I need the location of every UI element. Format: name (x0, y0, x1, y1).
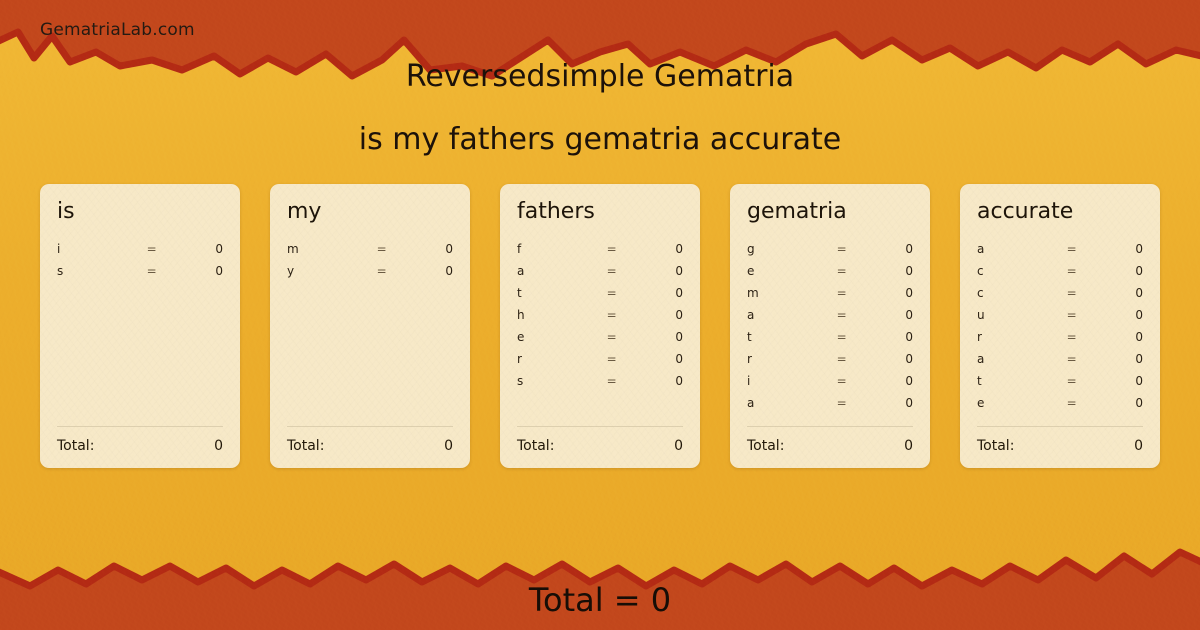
equals-sign: = (1053, 326, 1090, 348)
letter-list: m=0y=0 (287, 238, 453, 420)
letter-row: i=0 (57, 238, 223, 260)
letter-value: 0 (1090, 282, 1143, 304)
letter-value: 0 (630, 304, 683, 326)
equals-sign: = (363, 260, 400, 282)
letter-char: a (517, 260, 593, 282)
letter-row: a=0 (517, 260, 683, 282)
letter-row: c=0 (977, 260, 1143, 282)
letter-value: 0 (630, 348, 683, 370)
equals-sign: = (1053, 370, 1090, 392)
equals-sign: = (593, 326, 630, 348)
card-word: accurate (977, 200, 1143, 224)
word-card: isi=0s=0Total:0 (40, 184, 240, 468)
letter-char: e (977, 392, 1053, 414)
letter-char: s (57, 260, 133, 282)
letter-row: y=0 (287, 260, 453, 282)
letter-value: 0 (1090, 304, 1143, 326)
word-card: fathersf=0a=0t=0h=0e=0r=0s=0Total:0 (500, 184, 700, 468)
equals-sign: = (823, 392, 860, 414)
equals-sign: = (133, 238, 170, 260)
letter-value: 0 (170, 260, 223, 282)
equals-sign: = (593, 282, 630, 304)
letter-value: 0 (860, 282, 913, 304)
letter-char: c (977, 282, 1053, 304)
equals-sign: = (593, 260, 630, 282)
equals-sign: = (823, 348, 860, 370)
card-total-label: Total: (287, 438, 324, 454)
letter-char: r (747, 348, 823, 370)
letter-row: a=0 (977, 348, 1143, 370)
letter-char: a (747, 304, 823, 326)
letter-row: f=0 (517, 238, 683, 260)
letter-row: u=0 (977, 304, 1143, 326)
letter-value: 0 (1090, 260, 1143, 282)
equals-sign: = (823, 238, 860, 260)
word-card: mym=0y=0Total:0 (270, 184, 470, 468)
letter-char: a (747, 392, 823, 414)
equals-sign: = (1053, 238, 1090, 260)
letter-value: 0 (170, 238, 223, 260)
letter-value: 0 (400, 260, 453, 282)
letter-row: e=0 (747, 260, 913, 282)
letter-value: 0 (860, 260, 913, 282)
equals-sign: = (593, 304, 630, 326)
letter-row: a=0 (747, 392, 913, 414)
equals-sign: = (823, 260, 860, 282)
letter-value: 0 (860, 348, 913, 370)
letter-char: u (977, 304, 1053, 326)
letter-value: 0 (860, 304, 913, 326)
equals-sign: = (823, 326, 860, 348)
letter-row: t=0 (517, 282, 683, 304)
letter-char: i (57, 238, 133, 260)
letter-row: r=0 (517, 348, 683, 370)
card-total-value: 0 (1134, 438, 1143, 454)
letter-char: m (747, 282, 823, 304)
equals-sign: = (593, 348, 630, 370)
letter-value: 0 (630, 326, 683, 348)
letter-row: a=0 (977, 238, 1143, 260)
card-total-value: 0 (444, 438, 453, 454)
grand-total: Total = 0 (0, 581, 1200, 619)
letter-row: s=0 (517, 370, 683, 392)
card-total-value: 0 (214, 438, 223, 454)
letter-row: e=0 (977, 392, 1143, 414)
letter-list: i=0s=0 (57, 238, 223, 420)
card-total-label: Total: (57, 438, 94, 454)
letter-value: 0 (630, 260, 683, 282)
letter-value: 0 (860, 326, 913, 348)
equals-sign: = (1053, 282, 1090, 304)
site-brand[interactable]: GematriaLab.com (40, 20, 195, 40)
letter-value: 0 (630, 238, 683, 260)
letter-char: f (517, 238, 593, 260)
letter-char: t (517, 282, 593, 304)
card-total-row: Total:0 (517, 427, 683, 454)
card-word: gematria (747, 200, 913, 224)
letter-char: s (517, 370, 593, 392)
letter-value: 0 (860, 238, 913, 260)
equals-sign: = (823, 282, 860, 304)
page-subtitle: is my fathers gematria accurate (0, 122, 1200, 157)
card-total-row: Total:0 (977, 427, 1143, 454)
equals-sign: = (1053, 260, 1090, 282)
letter-value: 0 (400, 238, 453, 260)
letter-char: i (747, 370, 823, 392)
letter-value: 0 (630, 282, 683, 304)
letter-value: 0 (1090, 370, 1143, 392)
letter-list: a=0c=0c=0u=0r=0a=0t=0e=0 (977, 238, 1143, 420)
equals-sign: = (823, 370, 860, 392)
equals-sign: = (1053, 348, 1090, 370)
letter-row: t=0 (977, 370, 1143, 392)
letter-row: h=0 (517, 304, 683, 326)
letter-char: y (287, 260, 363, 282)
equals-sign: = (133, 260, 170, 282)
letter-list: g=0e=0m=0a=0t=0r=0i=0a=0 (747, 238, 913, 420)
letter-char: h (517, 304, 593, 326)
letter-value: 0 (1090, 392, 1143, 414)
card-total-label: Total: (517, 438, 554, 454)
page-title: Reversedsimple Gematria (0, 59, 1200, 94)
card-total-value: 0 (674, 438, 683, 454)
letter-char: a (977, 238, 1053, 260)
word-cards-row: isi=0s=0Total:0mym=0y=0Total:0fathersf=0… (40, 184, 1160, 468)
letter-char: r (977, 326, 1053, 348)
letter-char: g (747, 238, 823, 260)
letter-value: 0 (630, 370, 683, 392)
letter-row: m=0 (287, 238, 453, 260)
equals-sign: = (1053, 392, 1090, 414)
letter-value: 0 (1090, 326, 1143, 348)
letter-row: g=0 (747, 238, 913, 260)
letter-char: r (517, 348, 593, 370)
card-word: my (287, 200, 453, 224)
letter-char: e (517, 326, 593, 348)
letter-list: f=0a=0t=0h=0e=0r=0s=0 (517, 238, 683, 420)
letter-value: 0 (860, 392, 913, 414)
letter-char: e (747, 260, 823, 282)
equals-sign: = (593, 238, 630, 260)
gematria-poster: GematriaLab.com Reversedsimple Gematria … (0, 0, 1200, 630)
letter-char: m (287, 238, 363, 260)
letter-row: r=0 (977, 326, 1143, 348)
letter-row: m=0 (747, 282, 913, 304)
equals-sign: = (363, 238, 400, 260)
letter-row: s=0 (57, 260, 223, 282)
letter-row: c=0 (977, 282, 1143, 304)
letter-char: t (977, 370, 1053, 392)
word-card: gematriag=0e=0m=0a=0t=0r=0i=0a=0Total:0 (730, 184, 930, 468)
letter-char: t (747, 326, 823, 348)
equals-sign: = (1053, 304, 1090, 326)
card-word: is (57, 200, 223, 224)
letter-row: r=0 (747, 348, 913, 370)
card-total-row: Total:0 (57, 427, 223, 454)
card-total-value: 0 (904, 438, 913, 454)
card-total-row: Total:0 (747, 427, 913, 454)
letter-value: 0 (1090, 238, 1143, 260)
letter-char: a (977, 348, 1053, 370)
card-total-label: Total: (977, 438, 1014, 454)
word-card: accuratea=0c=0c=0u=0r=0a=0t=0e=0Total:0 (960, 184, 1160, 468)
letter-row: e=0 (517, 326, 683, 348)
card-total-label: Total: (747, 438, 784, 454)
letter-row: a=0 (747, 304, 913, 326)
card-total-row: Total:0 (287, 427, 453, 454)
card-word: fathers (517, 200, 683, 224)
letter-value: 0 (860, 370, 913, 392)
equals-sign: = (823, 304, 860, 326)
equals-sign: = (593, 370, 630, 392)
letter-row: t=0 (747, 326, 913, 348)
letter-row: i=0 (747, 370, 913, 392)
letter-char: c (977, 260, 1053, 282)
letter-value: 0 (1090, 348, 1143, 370)
